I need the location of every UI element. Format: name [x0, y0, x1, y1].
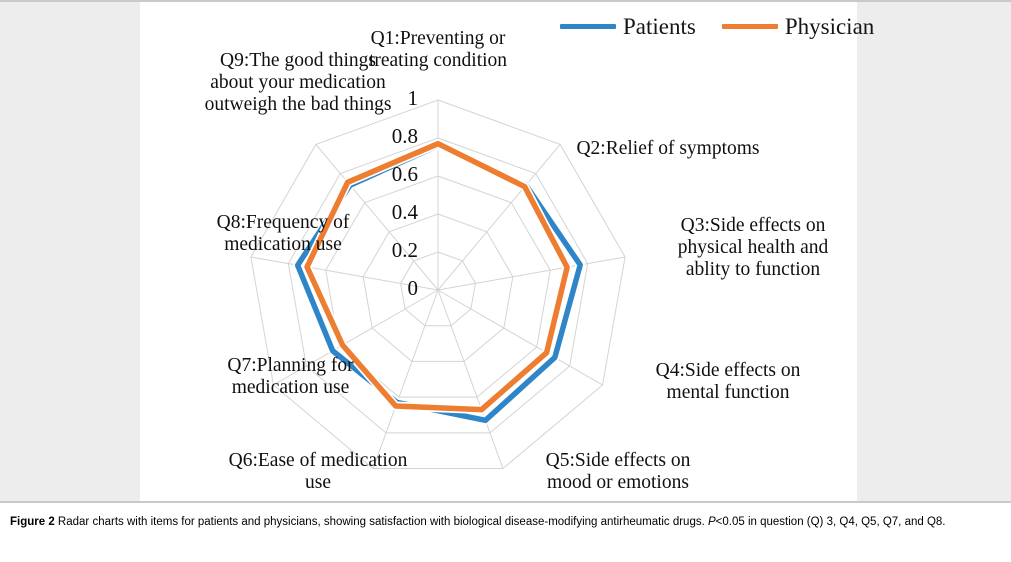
- radar-axis-label-q5: Q5:Side effects on mood or emotions: [518, 450, 718, 494]
- caption-text: Radar charts with items for patients and…: [55, 516, 708, 528]
- caption-figure-number: Figure 2: [10, 516, 55, 528]
- chart-left-panel: [0, 2, 140, 501]
- radar-axis-label-q6: Q6:Ease of medication use: [203, 450, 433, 494]
- radar-axis-spoke: [438, 257, 625, 290]
- radar-axis-label-q7: Q7:Planning for medication use: [193, 355, 388, 399]
- radar-chart: 00.20.40.60.81Q1:Preventing or treating …: [140, 2, 857, 501]
- radial-tick-label: 0.6: [278, 164, 418, 185]
- caption-stat-symbol: P: [708, 516, 716, 528]
- radar-axis-label-q3: Q3:Side effects on physical health and a…: [648, 215, 858, 280]
- chart-right-panel: [857, 2, 1011, 501]
- frame-bottom-rule: [0, 501, 1011, 503]
- figure-caption: Figure 2 Radar charts with items for pat…: [10, 514, 1000, 532]
- radial-tick-label: 0: [278, 278, 418, 299]
- caption-stat-rest: <0.05 in question (Q) 3, Q4, Q5, Q7, and…: [716, 516, 946, 528]
- figure-frame: Patients Physician 00.20.40.60.81Q1:Prev…: [0, 0, 1011, 504]
- radar-axis-label-q9: Q9:The good things about your medication…: [178, 50, 418, 115]
- radar-axis-spoke: [438, 290, 503, 469]
- radar-axis-label-q4: Q4:Side effects on mental function: [628, 360, 828, 404]
- radar-axis-label-q2: Q2:Relief of symptoms: [548, 138, 788, 160]
- radar-axis-label-q8: Q8:Frequency of medication use: [188, 212, 378, 256]
- radial-tick-label: 0.8: [278, 126, 418, 147]
